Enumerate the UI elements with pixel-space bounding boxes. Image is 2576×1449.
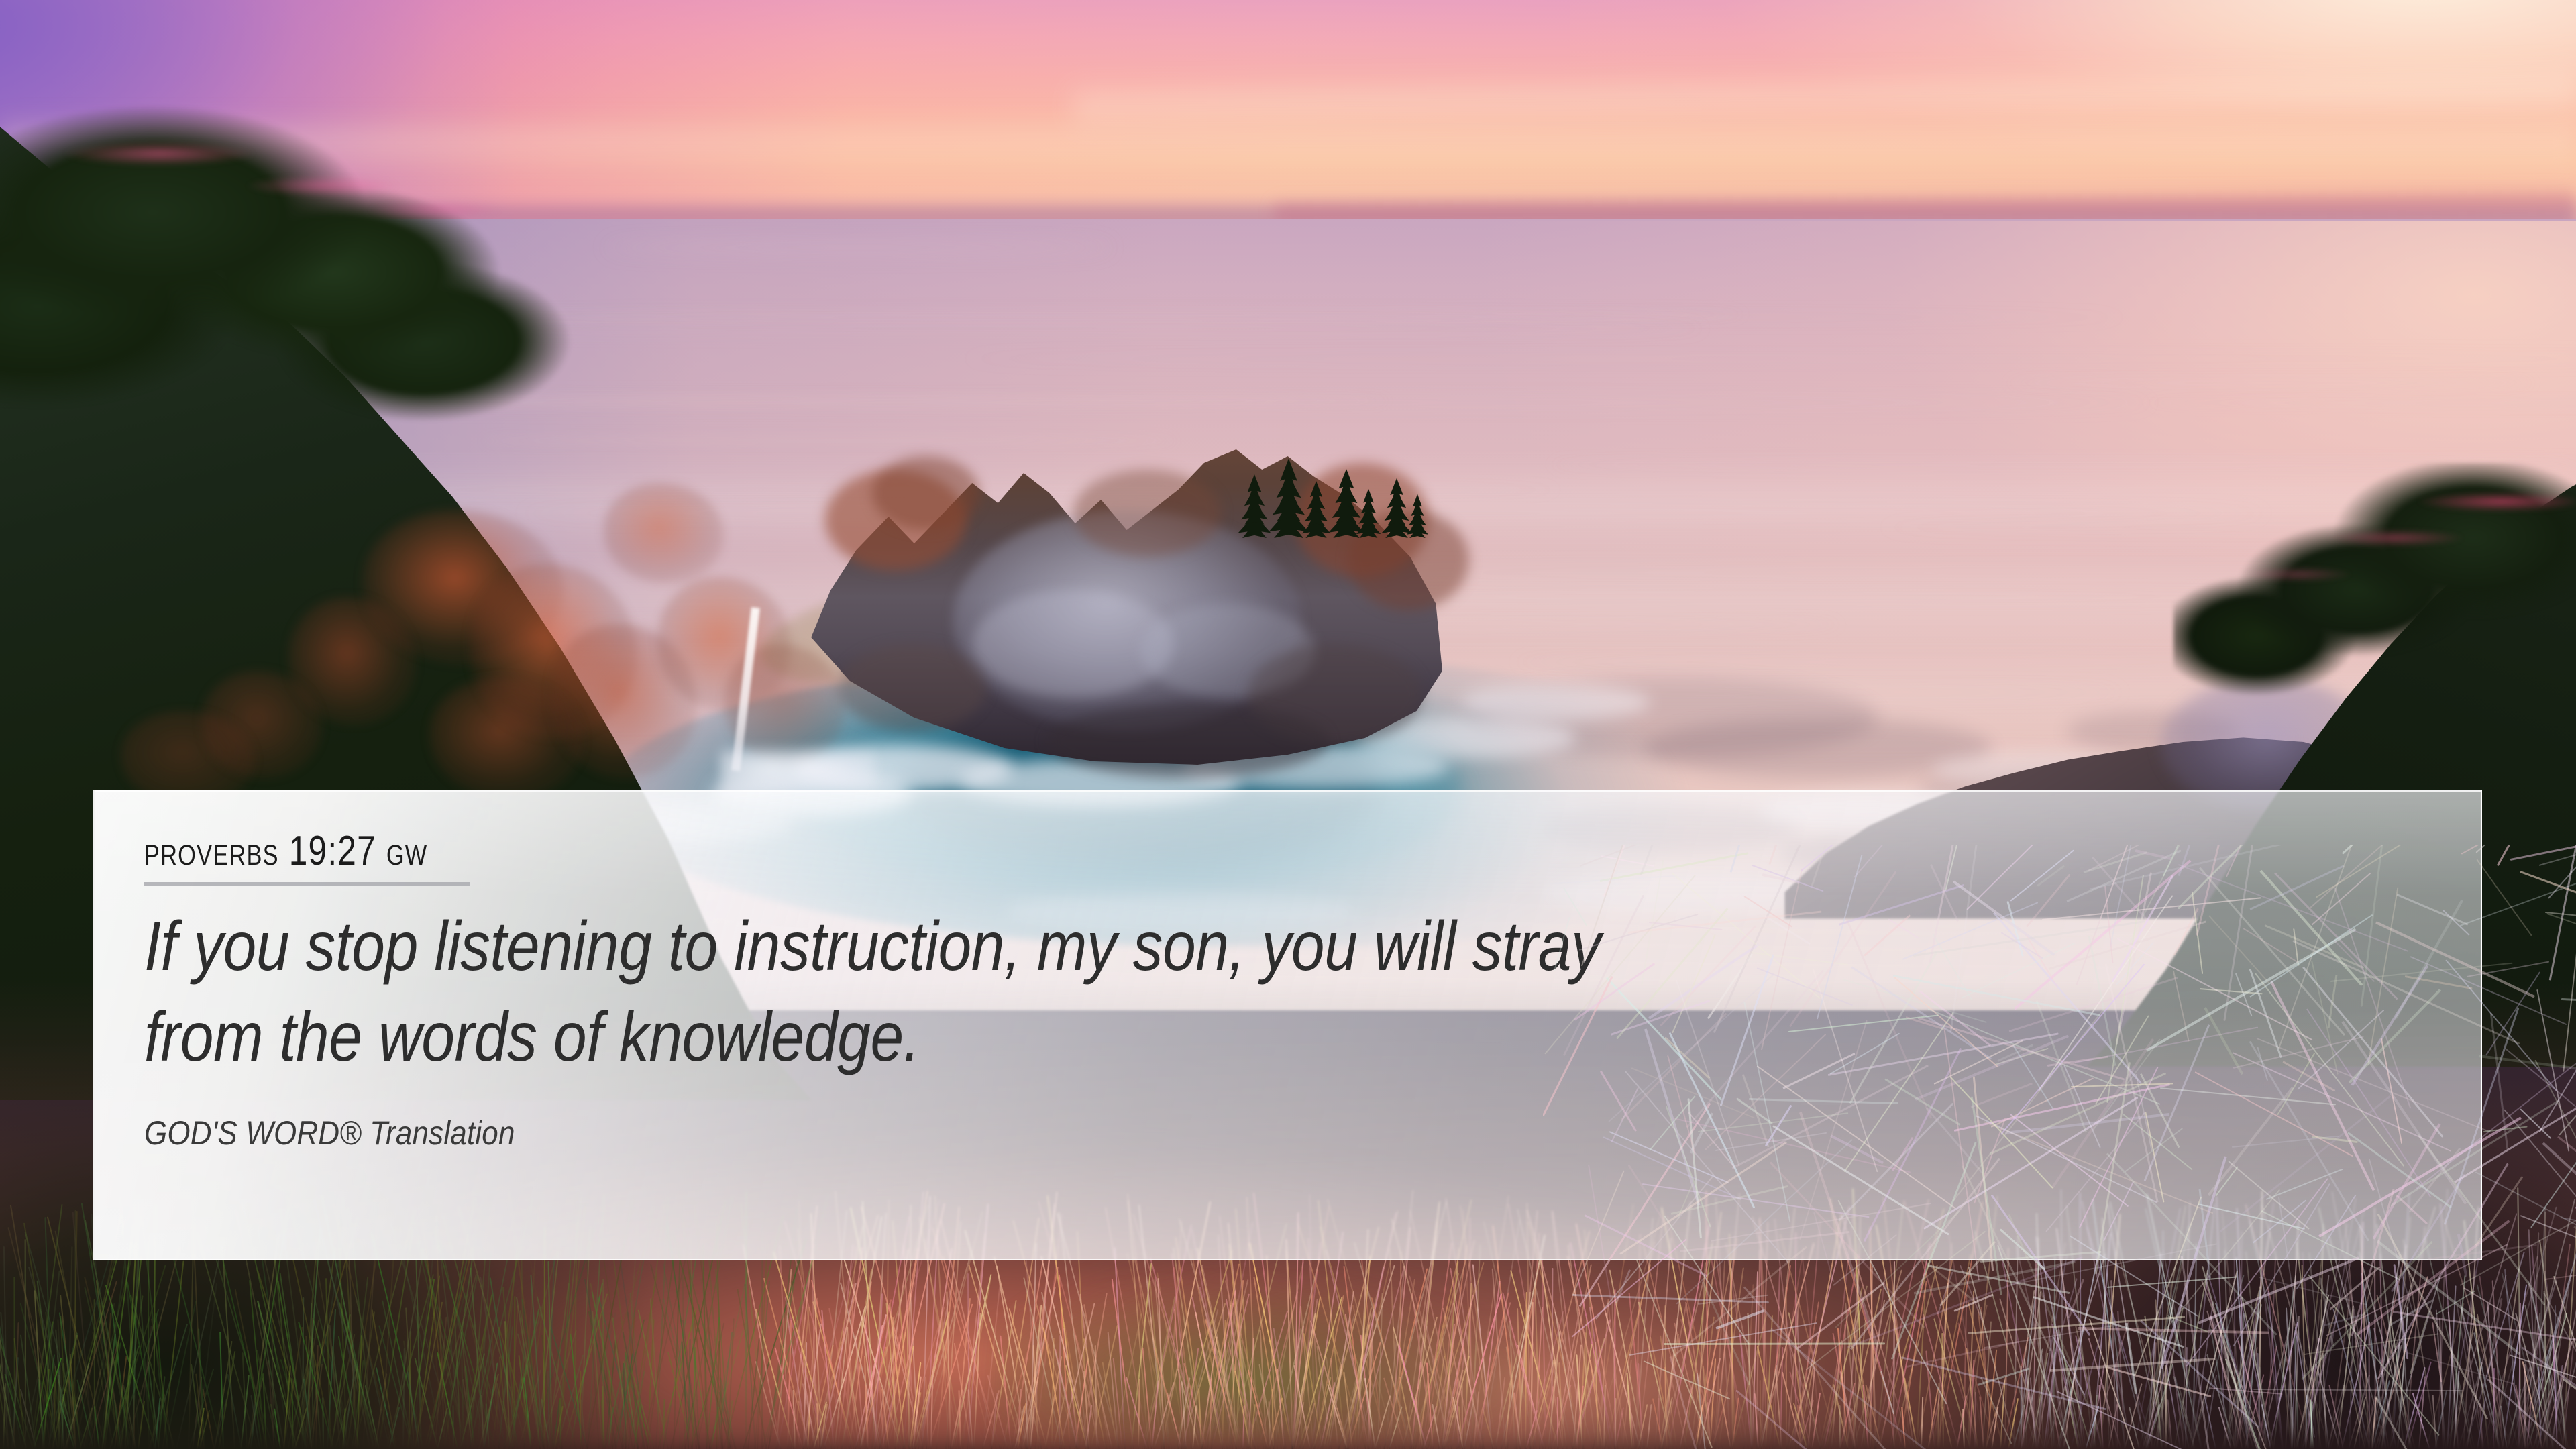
twig-branch [1730, 845, 1788, 873]
twig-branch [2574, 1226, 2576, 1313]
twig-branch [1686, 970, 1825, 1128]
twig-branch [1743, 896, 1792, 927]
grass-blade [196, 1232, 258, 1449]
rock-texture-patch [839, 644, 986, 731]
twig-branch [1843, 979, 1988, 1023]
twig-branch [2201, 1281, 2291, 1449]
twig-branch [2243, 928, 2298, 963]
twig-branch [2198, 1256, 2359, 1324]
twig-branch [2053, 1336, 2085, 1395]
twig-branch [2057, 1391, 2200, 1449]
grass-blade [24, 1239, 25, 1449]
twig-branch [2000, 1229, 2046, 1271]
pine-tree [1308, 481, 1324, 502]
pine-tree [1245, 474, 1264, 498]
twig-branch [1811, 845, 1844, 886]
twig-branch [2140, 1320, 2259, 1428]
twig-branch [1906, 1340, 2019, 1367]
pine-tree [1411, 494, 1424, 511]
outcrop-pine-trees [1228, 431, 1429, 538]
twig-branch [1880, 1371, 1894, 1415]
twig-branch [1770, 1162, 1925, 1328]
twig-branch [1664, 1216, 1750, 1346]
twig-branch [1749, 1098, 1898, 1104]
twig-branch [2253, 1389, 2463, 1392]
twig-branch [1619, 1142, 1787, 1255]
twig-branch [2160, 1087, 2336, 1106]
twig-branch [2178, 845, 2347, 910]
twig-branch [1579, 845, 1741, 867]
twig-branch [2545, 1268, 2576, 1280]
verse-reference-block: Proverbs 19:27 GW [144, 829, 498, 885]
twig-branch [1980, 1251, 2102, 1263]
twig-branch [2487, 1379, 2576, 1449]
twig-branch [2487, 1299, 2502, 1374]
twig-branch [1901, 1356, 2106, 1410]
twig-branch [2547, 913, 2576, 996]
twig-branch [2089, 1319, 2157, 1449]
twig-branch [2390, 1099, 2559, 1207]
rock-texture-patch [1073, 470, 1221, 557]
twig-branch [2342, 1020, 2467, 1203]
twig-branch [1697, 1373, 1724, 1449]
twig-branch [2107, 1277, 2237, 1289]
twig-branch [2308, 1274, 2440, 1436]
twig-branch [2235, 973, 2252, 1016]
twig-branch [1631, 1067, 1754, 1119]
pine-tree [1336, 469, 1356, 494]
twig-branch [2410, 957, 2567, 1026]
twig-branch [1839, 884, 1964, 926]
twig-branch [1644, 1360, 1731, 1399]
twig-branch [1765, 915, 1811, 945]
twig-branch [1543, 976, 1613, 1116]
right-tree-rimlight [2200, 470, 2576, 671]
waterfall-splash [721, 750, 875, 796]
twig-branch [1554, 875, 1676, 884]
ocean-streak [2008, 380, 2534, 386]
twig-branch [1610, 1000, 1709, 1035]
twig-branch [1667, 1055, 1696, 1155]
twig-branch [2521, 1346, 2576, 1434]
twig-branch [1817, 854, 1863, 1019]
wallpaper-scene: Proverbs 19:27 GW If you stop listening … [0, 0, 2576, 1449]
twig-branch [1670, 1356, 1715, 1449]
twig-branch [2025, 934, 2058, 987]
twig-branch [1950, 845, 1983, 1032]
twig-branch [2476, 859, 2532, 936]
twig-branch [1980, 1377, 2012, 1444]
verse-reference: Proverbs 19:27 GW [144, 829, 427, 874]
twig-branch [2561, 998, 2576, 1010]
twig-branch [2278, 1197, 2315, 1438]
twig-branch [2563, 930, 2576, 1072]
twig-branch [2126, 1323, 2138, 1394]
pine-tree [1277, 458, 1300, 487]
twig-branch [2539, 957, 2576, 1133]
twig-branch [2428, 1244, 2537, 1261]
twig-branch [1813, 1212, 1834, 1282]
twig-branch [1799, 1020, 1868, 1240]
twig-branch [2125, 1128, 2183, 1173]
twig-branch [1581, 845, 1663, 966]
left-tree-rimlight [27, 117, 537, 319]
twig-branch [1769, 845, 1806, 865]
twig-branch [2563, 1378, 2576, 1446]
ocean-streak [405, 311, 1746, 317]
twig-branch [2123, 1114, 2193, 1171]
rock-texture-patch [1046, 704, 1328, 778]
wave-foam [1462, 684, 1650, 720]
ocean-streak [604, 244, 1112, 252]
twig-branch [1902, 902, 2039, 959]
twig-branch [2510, 845, 2576, 861]
twig-branch [1789, 871, 1896, 1027]
twig-branch [1563, 894, 1644, 1055]
twig-branch [1588, 1165, 1612, 1301]
twig-branch [2475, 1176, 2523, 1246]
twig-branch [1944, 1030, 1980, 1281]
twig-branch [1761, 869, 1803, 1051]
twig-branch [2045, 1112, 2145, 1232]
twig-branch [1837, 1199, 1947, 1404]
twig-branch [2416, 1062, 2576, 1189]
twig-branch [1603, 1136, 1741, 1200]
pine-tree [1388, 478, 1405, 500]
twig-branch [1953, 880, 2055, 956]
twig-branch [1554, 916, 1570, 971]
pine-tree [1362, 489, 1376, 507]
bare-twig-branches [1543, 845, 2576, 1449]
twig-branch [1970, 1083, 2032, 1108]
twig-branch [1544, 875, 1695, 1054]
twig-branch [1800, 1112, 1880, 1347]
twig-branch [1864, 914, 1911, 956]
verse-reference-underline [144, 882, 470, 885]
rock-texture-patch [872, 456, 979, 530]
twig-branch [1854, 845, 1952, 877]
